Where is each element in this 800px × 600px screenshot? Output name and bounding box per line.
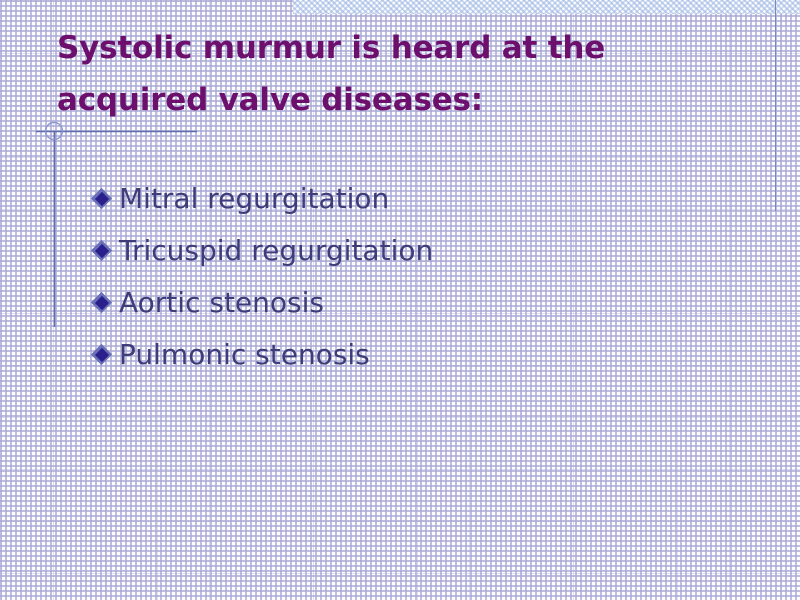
list-item[interactable]: Tricuspid regurgitation (91, 225, 731, 277)
list-item[interactable]: Aortic stenosis (91, 277, 731, 329)
diamond-bullet-icon (91, 188, 113, 210)
list-item-label: Mitral regurgitation (119, 183, 389, 215)
list-item-label: Pulmonic stenosis (119, 339, 370, 371)
bullet-list: Mitral regurgitation Tricuspid regurgita… (91, 173, 731, 381)
diamond-bullet-icon (91, 240, 113, 262)
diamond-bullet-icon (91, 344, 113, 366)
diamond-bullet-icon (91, 292, 113, 314)
slide-title: Systolic murmur is heard at the acquired… (57, 22, 717, 126)
list-item[interactable]: Mitral regurgitation (91, 173, 731, 225)
list-item-label: Aortic stenosis (119, 287, 324, 319)
top-decorative-band (293, 0, 800, 14)
right-vertical-rule (775, 0, 776, 211)
list-item-label: Tricuspid regurgitation (119, 235, 433, 267)
slide-canvas: Systolic murmur is heard at the acquired… (0, 0, 800, 600)
list-item[interactable]: Pulmonic stenosis (91, 329, 731, 381)
